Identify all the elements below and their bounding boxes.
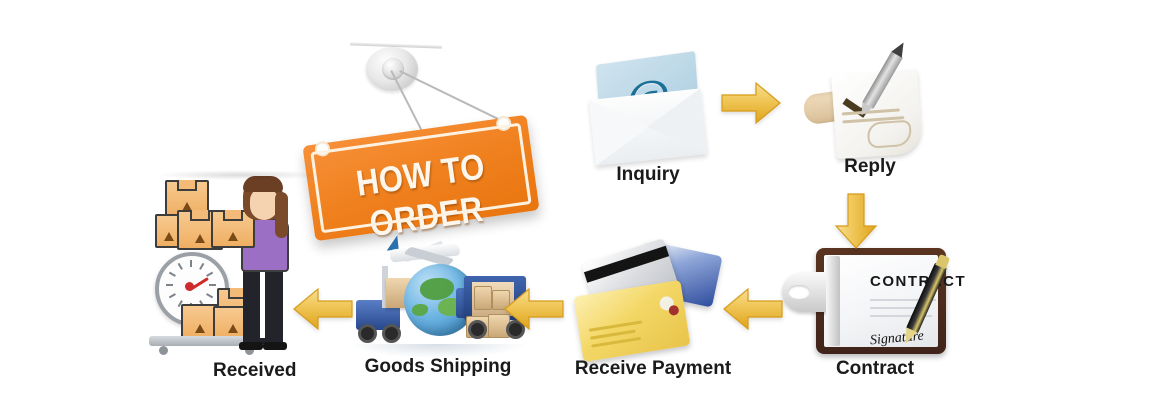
sign-eyelet-right: [495, 115, 512, 132]
person-legs: [243, 266, 283, 344]
step-label-reply: Reply: [844, 156, 896, 178]
arrow-payment-to-shipping: [503, 286, 565, 332]
step-label-inquiry: Inquiry: [616, 164, 679, 186]
arrow-inquiry-to-reply: [720, 80, 782, 126]
step-label-receive-payment: Receive Payment: [575, 358, 731, 380]
step-label-goods-shipping: Goods Shipping: [365, 356, 512, 378]
step-inquiry: @ Inquiry: [578, 52, 718, 192]
step-contract: CONTRACT Signature Contract: [800, 248, 950, 378]
sign-title: HOW TO ORDER: [321, 141, 525, 251]
arrow-contract-to-payment: [722, 286, 784, 332]
arrow-reply-to-contract: [833, 192, 879, 250]
clipboard-bar: [826, 256, 840, 346]
step-label-received: Received: [213, 360, 296, 382]
sign-plaque: HOW TO ORDER: [302, 115, 539, 242]
clipboard-handle: [782, 272, 830, 312]
how-to-order-sign: HOW TO ORDER: [300, 38, 545, 238]
step-receive-payment: Receive Payment: [578, 246, 728, 366]
contract-heading: CONTRACT: [870, 273, 966, 290]
sign-eyelet-left: [314, 140, 331, 157]
arrow-shipping-to-received: [292, 286, 354, 332]
person-face: [250, 188, 278, 220]
step-goods-shipping: Goods Shipping: [348, 244, 528, 368]
step-reply: Reply: [800, 48, 940, 188]
step-received: Received: [155, 176, 325, 366]
step-label-contract: Contract: [836, 358, 914, 380]
how-to-order-flow-diagram: HOW TO ORDER @ Inquiry: [0, 0, 1151, 414]
